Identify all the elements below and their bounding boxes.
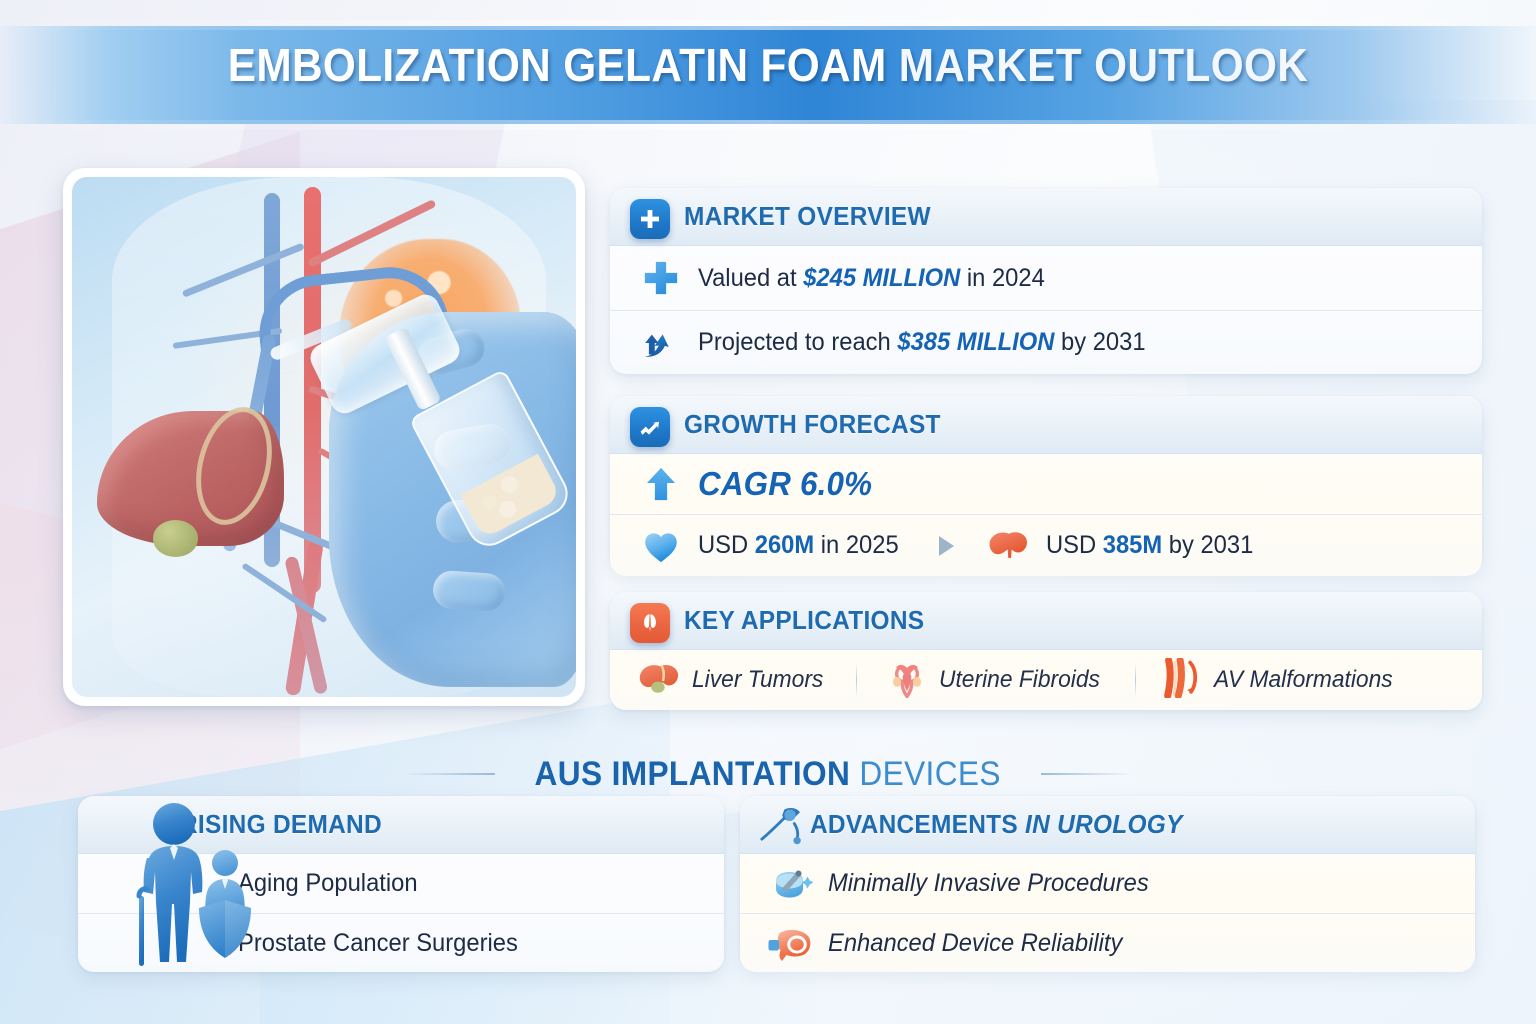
section-divider-bold: AUS IMPLANTATION [535, 755, 851, 793]
advancements-urology-title: ADVANCEMENTS IN UROLOGY [810, 809, 1183, 840]
valued-amount: $245 MILLION [803, 264, 960, 292]
key-applications-title: KEY APPLICATIONS [684, 605, 924, 636]
medical-cross-icon [630, 199, 670, 239]
market-overview-row-projected: Projected to reach $385 MILLION by 2031 [610, 310, 1482, 374]
cagr-value: CAGR 6.0% [698, 465, 872, 503]
market-overview-title: MARKET OVERVIEW [684, 201, 931, 232]
advancements-label-reliability: Enhanced Device Reliability [828, 929, 1122, 958]
page-title: EMBOLIZATION GELATIN FOAM MARKET OUTLOOK [61, 38, 1474, 92]
valued-prefix: Valued at [698, 264, 803, 292]
rising-demand-title: RISING DEMAND [180, 809, 382, 840]
growth-from-value: 260M [755, 531, 814, 559]
growth-from-suffix: in 2025 [814, 531, 899, 559]
surgical-instrument-icon [756, 805, 810, 845]
trending-up-icon [630, 407, 670, 447]
market-overview-header: MARKET OVERVIEW [610, 188, 1482, 246]
market-overview-row-valued: Valued at $245 MILLION in 2024 [610, 246, 1482, 310]
growth-comparison-row: USD 260M in 2025 USD 385M by 2031 [610, 514, 1482, 576]
cuff-device-icon [766, 922, 816, 964]
growth-to-value: 385M [1103, 531, 1162, 559]
projected-prefix: Projected to reach [698, 328, 897, 356]
hero-image-frame [63, 168, 585, 706]
blood-vessels-icon [1162, 658, 1206, 703]
advancements-urology-body: Minimally Invasive Procedures [740, 854, 1475, 972]
growth-forecast-header: GROWTH FORECAST [610, 396, 1482, 454]
growth-from-prefix: USD [698, 531, 755, 559]
upward-arrow-icon [636, 321, 686, 365]
growth-forecast-body: CAGR 6.0% USD 260M in 2025 [610, 454, 1482, 576]
section-divider-light: DEVICES [860, 755, 1001, 793]
page-title-strong: EMBOLIZATION GELATIN FOAM [228, 39, 887, 91]
growth-forecast-title: GROWTH FORECAST [684, 409, 941, 440]
growth-to-text: USD 385M by 2031 [1046, 531, 1253, 560]
key-applications-card: KEY APPLICATIONS [610, 592, 1482, 710]
application-item-uterine-fibroids[interactable]: Uterine Fibroids [883, 658, 1108, 703]
application-item-liver-tumors[interactable]: Liver Tumors [638, 659, 830, 702]
implant-device-icon [766, 863, 816, 905]
rising-demand-header: RISING DEMAND [78, 796, 724, 854]
section-divider-title: AUS IMPLANTATION DEVICES [535, 755, 1001, 794]
key-applications-items: Liver Tumors Uterine Fi [610, 650, 1482, 710]
market-overview-projected-text: Projected to reach $385 MILLION by 2031 [698, 328, 1146, 357]
market-overview-body: Valued at $245 MILLION in 2024 [610, 246, 1482, 374]
advancements-urology-card: ADVANCEMENTS IN UROLOGY [740, 796, 1475, 968]
rising-demand-row-prostate: Prostate Cancer Surgeries [78, 913, 724, 972]
page-title-light: MARKET OUTLOOK [899, 39, 1309, 91]
rising-demand-label-aging: Aging Population [238, 869, 418, 898]
growth-from-text: USD 260M in 2025 [698, 531, 899, 560]
rising-demand-label-prostate: Prostate Cancer Surgeries [238, 929, 518, 958]
projected-suffix: by 2031 [1054, 328, 1145, 356]
advancements-title-bold: ADVANCEMENTS [810, 809, 1018, 839]
advancements-row-minimally-invasive: Minimally Invasive Procedures [740, 854, 1475, 913]
market-overview-card: MARKET OVERVIEW Valued at $245 MILLION [610, 188, 1482, 374]
rising-demand-body: Aging Population Prostate Cancer Surgeri… [78, 854, 724, 972]
application-label-av-malformations: AV Malformations [1214, 666, 1393, 694]
key-applications-header: KEY APPLICATIONS [610, 592, 1482, 650]
application-label-liver-tumors: Liver Tumors [692, 666, 823, 694]
advancements-title-italic: IN UROLOGY [1025, 809, 1183, 839]
infographic-page: EMBOLIZATION GELATIN FOAM MARKET OUTLOOK [0, 0, 1536, 1024]
heart-icon [636, 525, 686, 567]
application-separator-2 [1135, 663, 1136, 697]
blue-cross-icon [636, 256, 686, 300]
liver-icon [638, 659, 684, 702]
projected-amount: $385 MILLION [897, 328, 1054, 356]
advancements-row-reliability: Enhanced Device Reliability [740, 913, 1475, 972]
growth-forecast-card: GROWTH FORECAST CAGR 6.0% [610, 396, 1482, 572]
growth-cagr-row: CAGR 6.0% [610, 454, 1482, 514]
liver-icon [984, 526, 1034, 566]
liver-embolization-illustration [72, 177, 576, 697]
divider-line-left [403, 773, 495, 775]
finger-4 [432, 570, 506, 613]
divider-line-right [1041, 773, 1133, 775]
key-applications-body: Liver Tumors Uterine Fi [610, 650, 1482, 710]
lungs-icon [630, 603, 670, 643]
up-arrow-icon [636, 463, 686, 505]
advancements-label-minimally-invasive: Minimally Invasive Procedures [828, 869, 1149, 898]
application-label-uterine-fibroids: Uterine Fibroids [939, 666, 1100, 694]
rising-demand-card: RISING DEMAND Aging Population Prostate … [78, 796, 724, 972]
growth-to-suffix: by 2031 [1162, 531, 1253, 559]
advancements-urology-header: ADVANCEMENTS IN UROLOGY [740, 796, 1475, 854]
rising-demand-row-aging: Aging Population [78, 854, 724, 913]
section-divider: AUS IMPLANTATION DEVICES [0, 745, 1536, 803]
valued-suffix: in 2024 [960, 264, 1045, 292]
triangle-right-icon [939, 536, 954, 556]
gallbladder-organ [153, 520, 198, 556]
uterus-icon [883, 658, 931, 703]
application-separator-1 [856, 663, 857, 697]
application-item-av-malformations[interactable]: AV Malformations [1162, 658, 1402, 703]
market-overview-valued-text: Valued at $245 MILLION in 2024 [698, 264, 1045, 293]
growth-to-prefix: USD [1046, 531, 1103, 559]
